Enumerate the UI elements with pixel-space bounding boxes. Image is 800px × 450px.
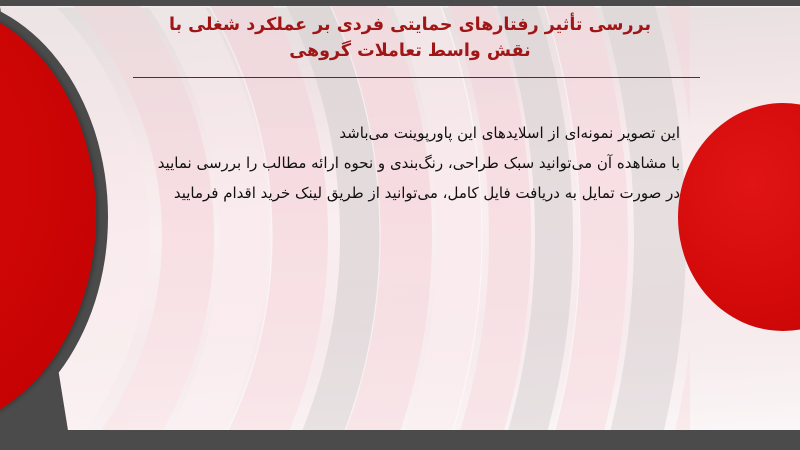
slide-title-line-2: نقش واسط تعاملات گروهی [120, 38, 700, 64]
slide-content: بررسی تأثیر رفتارهای حمایتی فردی بر عملک… [0, 0, 800, 450]
slide-title-line-1: بررسی تأثیر رفتارهای حمایتی فردی بر عملک… [120, 12, 700, 38]
body-line-3: در صورت تمایل به دریافت فایل کامل، می‌تو… [110, 178, 680, 208]
slide-body-text: این تصویر نمونه‌ای از اسلایدهای این پاور… [110, 118, 680, 208]
body-line-2: با مشاهده آن می‌توانید سبک طراحی، رنگ‌بن… [110, 148, 680, 178]
slide-title: بررسی تأثیر رفتارهای حمایتی فردی بر عملک… [120, 12, 700, 64]
body-line-1: این تصویر نمونه‌ای از اسلایدهای این پاور… [110, 118, 680, 148]
title-underline-rule [133, 77, 700, 78]
slide-canvas: بررسی تأثیر رفتارهای حمایتی فردی بر عملک… [0, 0, 800, 450]
